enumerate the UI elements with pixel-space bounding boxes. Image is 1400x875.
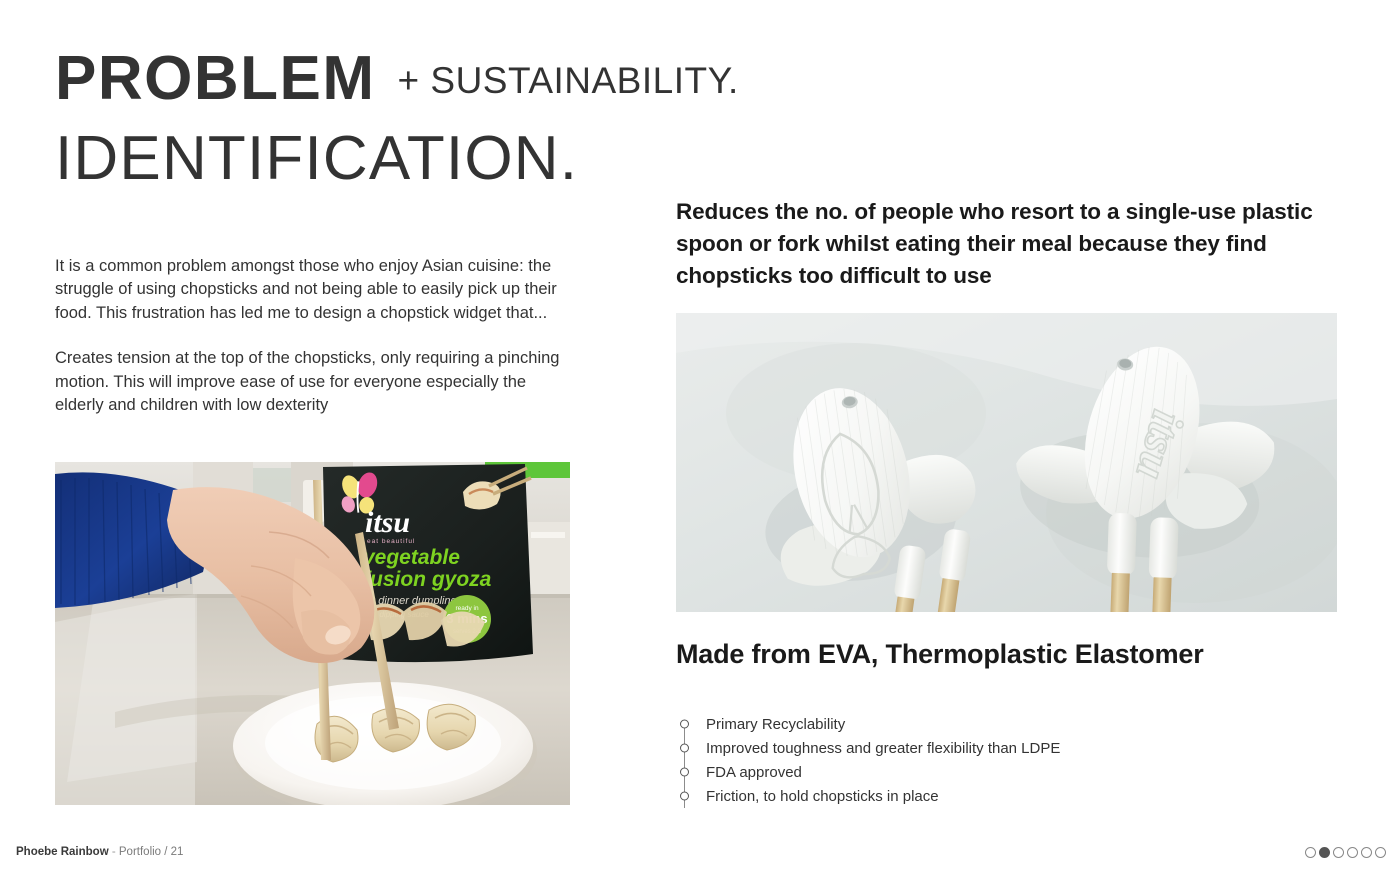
- feature-label: Primary Recyclability: [706, 717, 845, 732]
- circle-bullet-icon: [680, 720, 689, 729]
- solution-paragraph: Creates tension at the top of the chopst…: [55, 347, 570, 417]
- pagination-dot-2[interactable]: [1319, 847, 1330, 858]
- pagination-dot-4[interactable]: [1347, 847, 1358, 858]
- circle-bullet-icon: [680, 744, 689, 753]
- page-title: PROBLEM + SUSTAINABILITY. IDENTIFICATION…: [55, 48, 755, 190]
- svg-text:itsu: itsu: [365, 506, 410, 539]
- pagination-dot-5[interactable]: [1361, 847, 1372, 858]
- pagination-dot-1[interactable]: [1305, 847, 1316, 858]
- slide-canvas: PROBLEM + SUSTAINABILITY. IDENTIFICATION…: [0, 0, 1400, 875]
- svg-text:fusion gyoza: fusion gyoza: [363, 568, 492, 591]
- chopstick-widget-illustration: itsu: [676, 313, 1337, 612]
- footer-separator: -: [109, 846, 119, 858]
- circle-bullet-icon: [680, 792, 689, 801]
- feature-label: Improved toughness and greater flexibili…: [706, 741, 1060, 756]
- title-main-word: PROBLEM: [55, 48, 376, 110]
- list-item: Primary Recyclability: [676, 712, 1296, 736]
- title-superscript: + SUSTAINABILITY.: [398, 62, 739, 99]
- circle-bullet-icon: [680, 768, 689, 777]
- chopsticks-gyoza-photo: itsu eat beautiful vegetable fusion gyoz…: [55, 462, 570, 805]
- footer-author: Phoebe Rainbow: [16, 846, 109, 858]
- title-second-line: IDENTIFICATION.: [55, 128, 755, 190]
- left-text-column: It is a common problem amongst those who…: [55, 255, 575, 418]
- title-first-line: PROBLEM + SUSTAINABILITY.: [55, 48, 755, 110]
- intro-paragraph: It is a common problem amongst those who…: [55, 255, 570, 325]
- pagination-dots[interactable]: [1305, 847, 1386, 858]
- svg-text:eat beautiful: eat beautiful: [367, 538, 415, 545]
- feature-label: FDA approved: [706, 765, 802, 780]
- material-heading: Made from EVA, Thermoplastic Elastomer: [676, 637, 1236, 673]
- chopsticks-gyoza-illustration: itsu eat beautiful vegetable fusion gyoz…: [55, 462, 570, 805]
- chopstick-widget-photo: itsu: [676, 313, 1337, 612]
- list-item: FDA approved: [676, 760, 1296, 784]
- benefit-heading: Reduces the no. of people who resort to …: [676, 196, 1316, 292]
- feature-label: Friction, to hold chopsticks in place: [706, 789, 939, 804]
- right-text-column: Reduces the no. of people who resort to …: [676, 196, 1341, 292]
- list-item: Friction, to hold chopsticks in place: [676, 784, 1296, 808]
- pagination-dot-6[interactable]: [1375, 847, 1386, 858]
- material-feature-list: Primary Recyclability Improved toughness…: [676, 712, 1296, 808]
- list-item: Improved toughness and greater flexibili…: [676, 736, 1296, 760]
- svg-text:vegetable: vegetable: [363, 546, 460, 569]
- footer-document: Portfolio / 21: [119, 846, 184, 858]
- footer-credit: Phoebe Rainbow - Portfolio / 21: [16, 846, 183, 858]
- pagination-dot-3[interactable]: [1333, 847, 1344, 858]
